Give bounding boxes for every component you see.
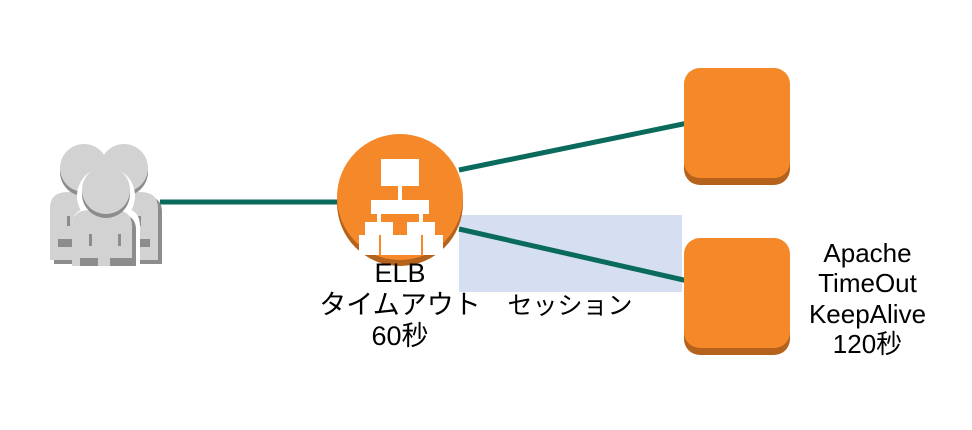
label-layer: ELB タイムアウト 60秒 セッション Apache TimeOut Keep…: [0, 0, 972, 430]
apache-annotation-label: Apache TimeOut KeepAlive 120秒: [775, 238, 960, 360]
session-label: セッション: [470, 292, 670, 321]
diagram-canvas: ELB タイムアウト 60秒 セッション Apache TimeOut Keep…: [0, 0, 972, 430]
